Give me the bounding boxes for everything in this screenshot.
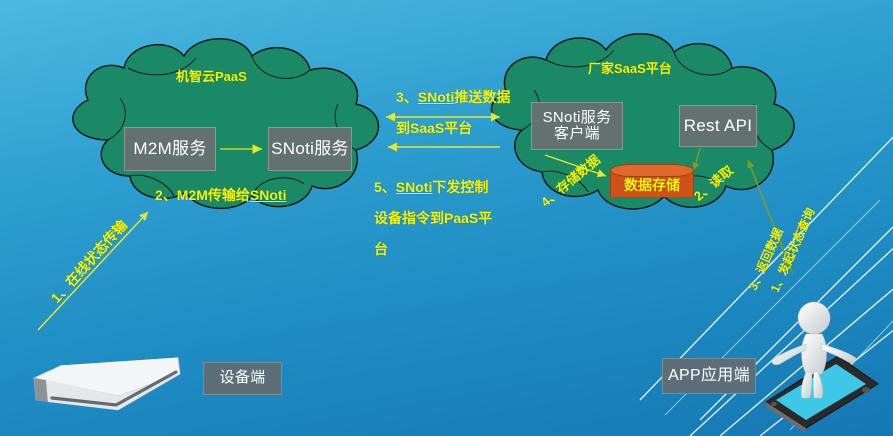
label-step3-underline: SNoti xyxy=(418,89,455,105)
label-step5-prefix: 5、 xyxy=(374,179,396,195)
label-step2-underline: SNoti xyxy=(250,187,287,203)
database-data-store[interactable]: 数据存储 xyxy=(610,164,694,202)
cloud-saas-title: 厂家SaaS平台 xyxy=(588,62,672,77)
label-step3-prefix: 3、 xyxy=(396,89,418,105)
label-step5: 5、SNoti下发控制 设备指令到PaaS平 台 xyxy=(374,164,520,258)
air-conditioner-device xyxy=(34,358,180,410)
diagram-canvas: 机智云PaaS 厂家SaaS平台 M2M服务 SNoti服务 SNoti服务 客… xyxy=(0,0,893,436)
label-step2: 2、M2M传输给SNoti xyxy=(155,172,286,203)
box-snoti-service[interactable]: SNoti服务 xyxy=(268,127,352,171)
label-step5-suffix: 下发控制 xyxy=(432,179,488,195)
label-step5-underline: SNoti xyxy=(396,179,433,195)
label-step3: 3、SNoti推送数据 到SaaS平台 xyxy=(396,74,548,137)
label-step5-line2: 设备指令到PaaS平 xyxy=(374,210,492,226)
box-app-end[interactable]: APP应用端 xyxy=(662,358,756,394)
box-m2m-service[interactable]: M2M服务 xyxy=(124,127,216,171)
db-label: 数据存储 xyxy=(610,174,694,196)
box-rest-api[interactable]: Rest API xyxy=(679,105,757,147)
label-step2-prefix: 2、M2M传输给 xyxy=(155,187,250,203)
label-step3-line2: 到SaaS平台 xyxy=(396,120,472,136)
box-device-end[interactable]: 设备端 xyxy=(203,362,282,395)
cloud-paas-title: 机智云PaaS xyxy=(176,70,247,85)
label-step3-suffix: 推送数据 xyxy=(454,89,510,105)
label-step5-line3: 台 xyxy=(374,241,388,257)
